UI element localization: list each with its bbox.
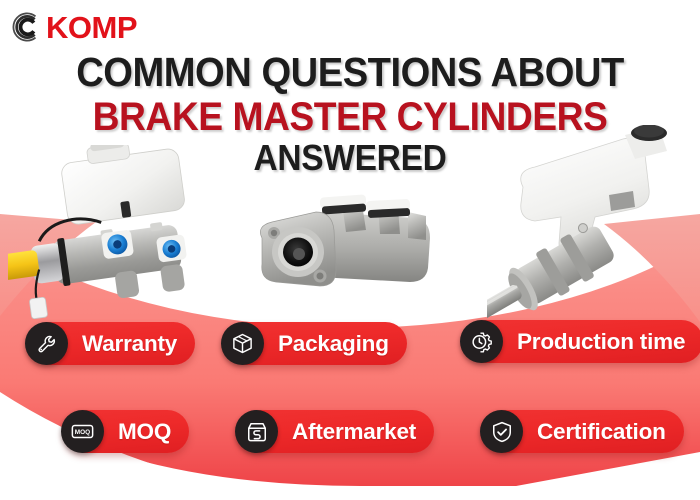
pill-packaging[interactable]: Packaging (222, 322, 407, 365)
moq-box-icon: MOQ (61, 410, 104, 453)
brand-logo[interactable]: KOMP (10, 6, 137, 48)
product-image-3 (487, 125, 692, 325)
product-image-1 (8, 145, 248, 325)
pill-moq-label: MOQ (118, 419, 171, 445)
pill-certification-label: Certification (537, 419, 666, 445)
pill-packaging-label: Packaging (278, 331, 389, 357)
shield-check-icon (480, 410, 523, 453)
pill-moq[interactable]: MOQ MOQ (62, 410, 189, 453)
pill-certification[interactable]: Certification (481, 410, 684, 453)
pill-aftermarket[interactable]: Aftermarket (236, 410, 434, 453)
pill-warranty[interactable]: Warranty (26, 322, 195, 365)
product-image-2 (250, 190, 450, 315)
poster-canvas: KOMP COMMON QUESTIONS ABOUT BRAKE MASTER… (0, 0, 700, 500)
wrench-icon (25, 322, 68, 365)
storefront-icon (235, 410, 278, 453)
moq-icon-text: MOQ (75, 429, 90, 436)
pill-production-time[interactable]: Production time (461, 320, 700, 363)
c-circle-logo-icon (10, 10, 44, 44)
gear-clock-icon (460, 320, 503, 363)
brand-name: KOMP (46, 12, 137, 43)
pill-warranty-label: Warranty (82, 331, 177, 357)
pill-aftermarket-label: Aftermarket (292, 419, 416, 445)
package-box-icon (221, 322, 264, 365)
pill-production-time-label: Production time (517, 329, 685, 355)
headline-line-1: COMMON QUESTIONS ABOUT (25, 52, 676, 94)
